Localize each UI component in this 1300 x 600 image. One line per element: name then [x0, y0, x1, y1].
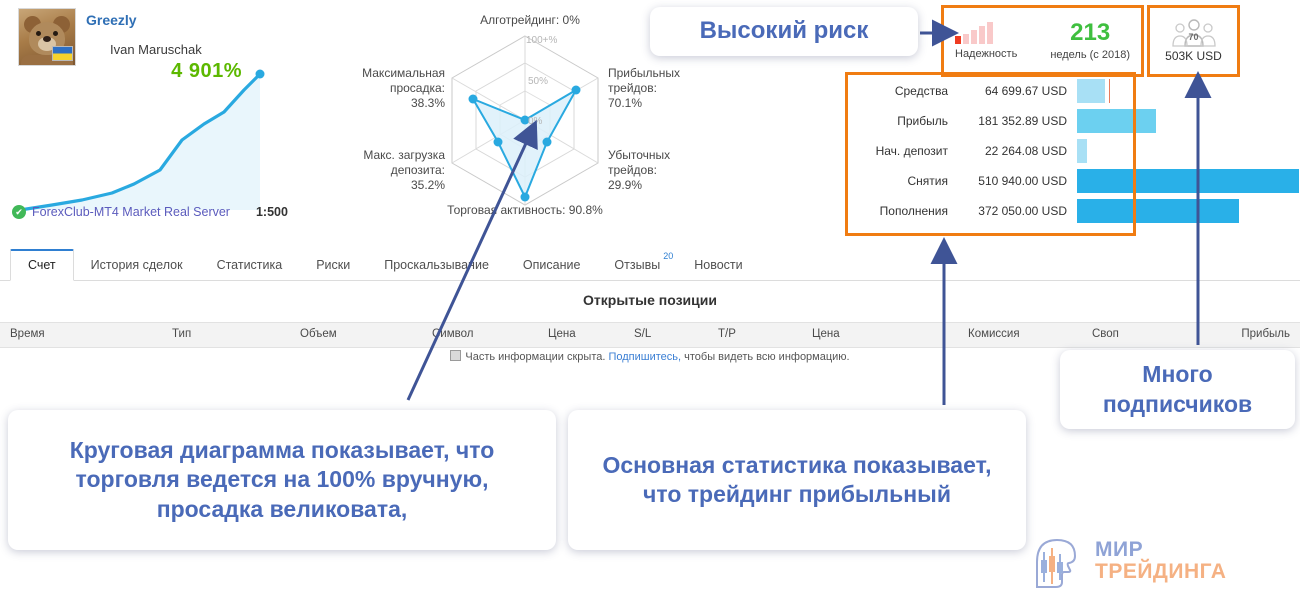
callout-high-risk: Высокий риск: [650, 7, 918, 56]
head-candlestick-icon: [1025, 532, 1087, 590]
callout-statistics: Основная статистика показывает, что трей…: [568, 410, 1026, 550]
arrow-to-radar: [408, 128, 533, 400]
callout-subscribers: Много подписчиков: [1060, 350, 1295, 429]
logo-line2: ТРЕЙДИНГА: [1095, 561, 1226, 583]
logo-line1: МИР: [1095, 539, 1226, 561]
site-logo[interactable]: МИР ТРЕЙДИНГА: [1025, 528, 1290, 594]
callout-pie-chart: Круговая диаграмма показывает, что торго…: [8, 410, 556, 550]
